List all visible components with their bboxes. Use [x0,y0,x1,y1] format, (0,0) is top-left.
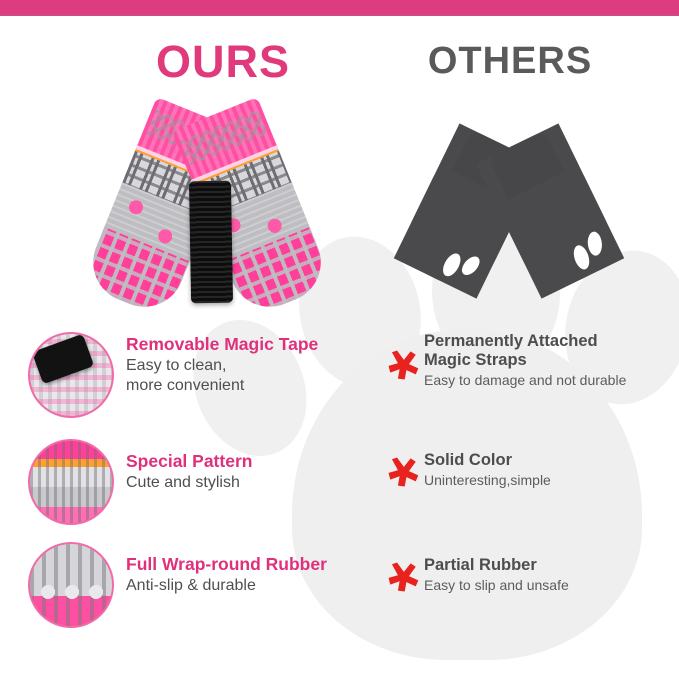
ours-feature-text: Special Pattern Cute and stylish [126,451,396,492]
others-feature-subtitle: Easy to damage and not durable [424,372,674,389]
others-feature-subtitle: Uninteresting,simple [424,472,674,489]
x-mark-icon [386,560,420,594]
ours-feature-subtitle-line1: Cute and stylish [126,473,396,492]
magic-tape-strap [189,181,233,304]
feature-thumbnail-full-rubber [28,542,114,628]
others-feature-title-line1: Permanently Attached [424,332,674,351]
ours-feature-subtitle-line1: Anti-slip & durable [126,576,396,595]
x-mark-icon [386,348,420,382]
others-feature-text: Partial Rubber Easy to slip and unsafe [424,556,674,594]
infographic-canvas: OURS OTHERS [0,0,679,679]
others-product-image [418,136,608,316]
feature-thumbnail-magic-tape [28,332,114,418]
x-mark-icon [386,455,420,489]
comparison-row: Removable Magic Tape Easy to clean, more… [0,330,679,426]
ours-feature-text: Removable Magic Tape Easy to clean, more… [126,334,396,395]
others-feature-text: Permanently Attached Magic Straps Easy t… [424,332,674,389]
others-feature-title-line2: Magic Straps [424,351,674,370]
ours-product-image [98,103,320,321]
comparison-row: Full Wrap-round Rubber Anti-slip & durab… [0,540,679,636]
comparison-row: Special Pattern Cute and stylish Solid C… [0,437,679,533]
ours-feature-title: Full Wrap-round Rubber [126,554,396,575]
ours-feature-title: Special Pattern [126,451,396,472]
top-accent-bar [0,0,679,14]
others-feature-title-line1: Partial Rubber [424,556,674,575]
others-feature-title-line1: Solid Color [424,451,674,470]
others-header: OTHERS [410,40,610,83]
feature-thumbnail-special-pattern [28,439,114,525]
others-feature-subtitle: Easy to slip and unsafe [424,577,674,594]
ours-feature-text: Full Wrap-round Rubber Anti-slip & durab… [126,554,396,595]
others-feature-text: Solid Color Uninteresting,simple [424,451,674,489]
ours-feature-subtitle-line1: Easy to clean, [126,356,396,375]
ours-feature-title: Removable Magic Tape [126,334,396,355]
ours-header: OURS [128,36,318,88]
ours-feature-subtitle-line2: more convenient [126,376,396,395]
top-accent-bar-edge [0,14,679,16]
